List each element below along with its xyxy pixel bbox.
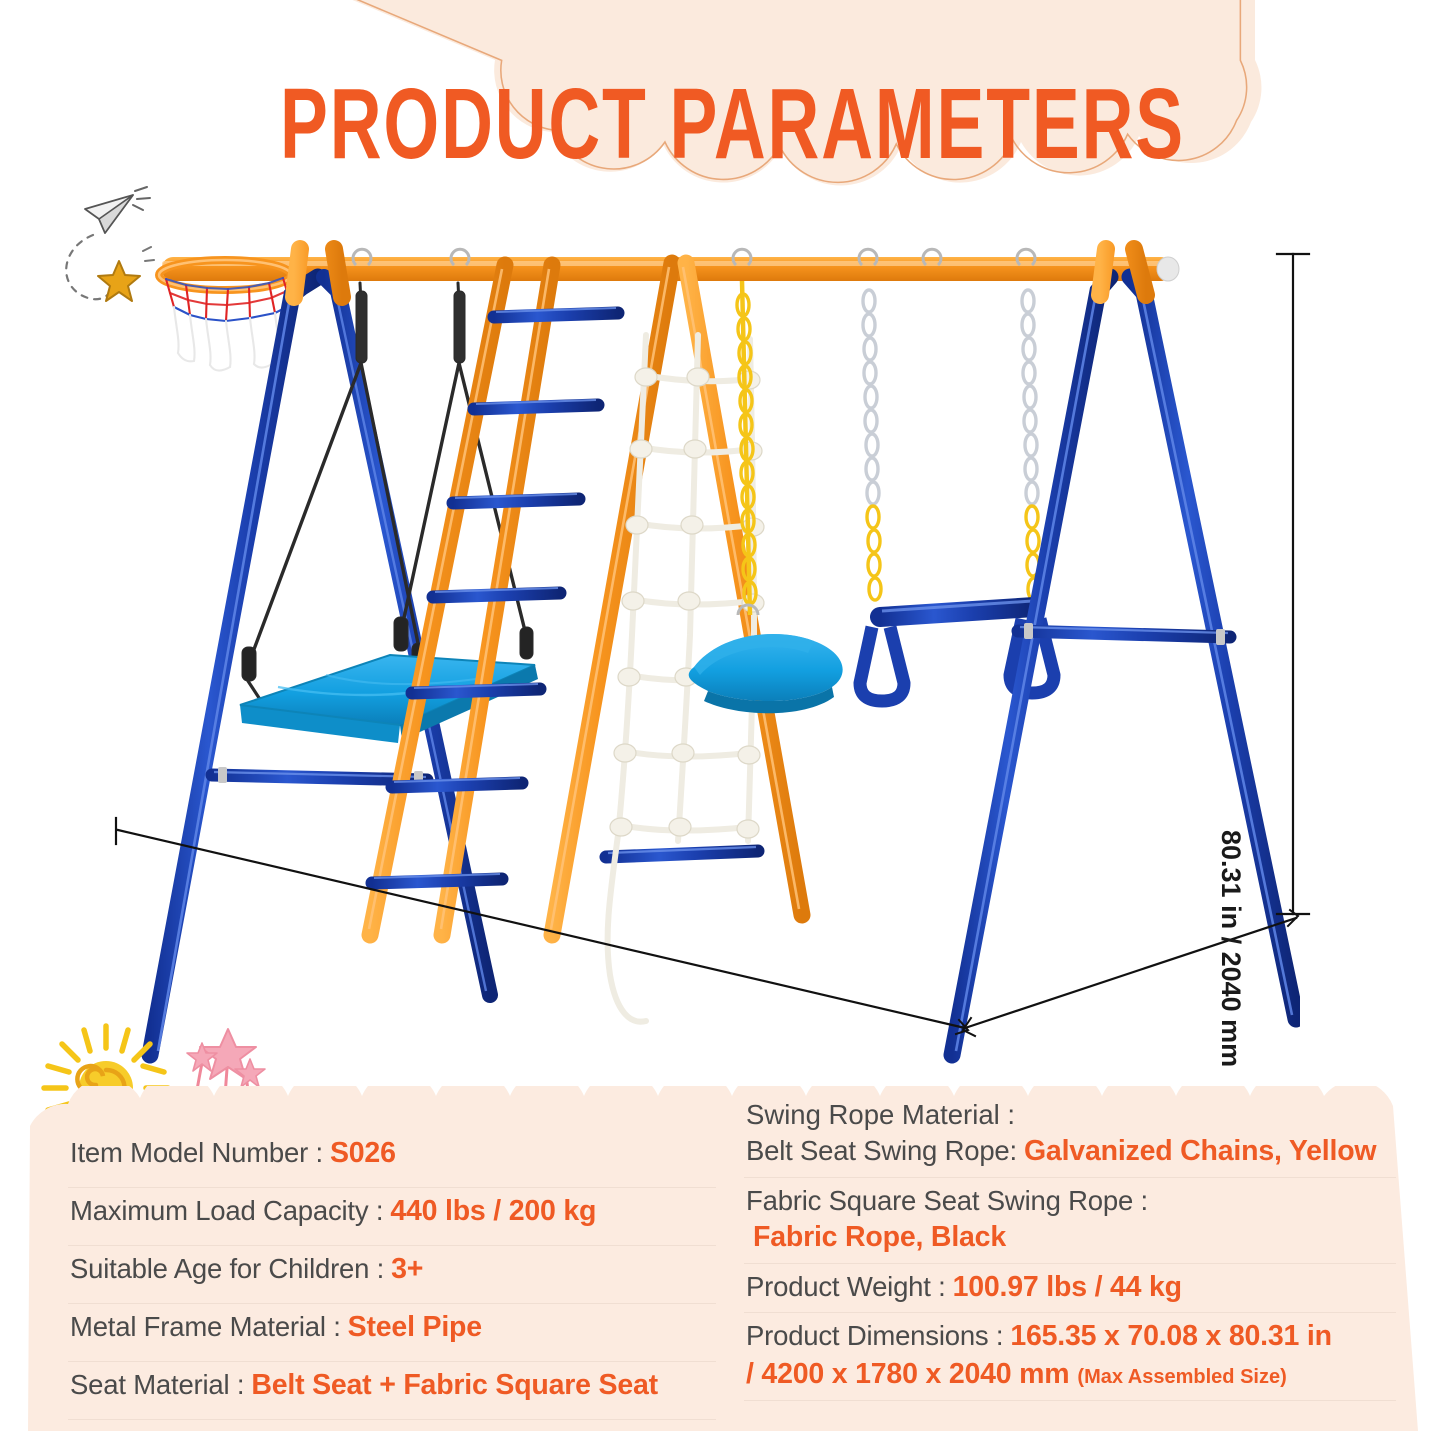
- infographic-page: PRODUCT PARAMETERS: [0, 0, 1445, 1445]
- spec-value: 3+: [391, 1251, 423, 1289]
- spec-value: 100.97 lbs / 44 kg: [953, 1269, 1182, 1307]
- spec-label: Product Dimensions :: [746, 1318, 1003, 1354]
- spec-label: Belt Seat Swing Rope:: [746, 1133, 1017, 1169]
- belt-seat-swing: [689, 249, 843, 713]
- spec-value-line2: / 4200 x 1780 x 2040 mm: [746, 1356, 1069, 1394]
- spec-label: Product Weight :: [746, 1269, 946, 1305]
- spec-value: Galvanized Chains, Yellow: [1024, 1133, 1376, 1171]
- specs-column-right: Swing Rope Material : Belt Seat Swing Ro…: [744, 1090, 1396, 1431]
- spec-row-metal-frame-material: Metal Frame Material : Steel Pipe: [68, 1304, 716, 1362]
- page-title: PRODUCT PARAMETERS: [197, 66, 1269, 182]
- spec-value: 165.35 x 70.08 x 80.31 in: [1010, 1318, 1331, 1356]
- spec-value: Fabric Rope, Black: [753, 1219, 1006, 1257]
- spec-value: Belt Seat + Fabric Square Seat: [251, 1367, 658, 1405]
- specs-column-left: Item Model Number : S026 Maximum Load Ca…: [68, 1090, 716, 1431]
- title-banner: PRODUCT PARAMETERS: [150, 0, 1315, 205]
- specs-panel: Item Model Number : S026 Maximum Load Ca…: [28, 1086, 1418, 1431]
- spec-row-max-load-capacity: Maximum Load Capacity : 440 lbs / 200 kg: [68, 1188, 716, 1246]
- spec-value: 440 lbs / 200 kg: [390, 1193, 596, 1231]
- spec-label: Maximum Load Capacity :: [70, 1193, 383, 1229]
- spec-label: Item Model Number :: [70, 1135, 323, 1171]
- spec-row-suitable-age: Suitable Age for Children : 3+: [68, 1246, 716, 1304]
- a-frame-legs-right: [952, 249, 1296, 1055]
- spec-row-item-model-number: Item Model Number : S026: [68, 1130, 716, 1188]
- spec-note: (Max Assembled Size): [1077, 1364, 1286, 1390]
- spec-label: Fabric Square Seat Swing Rope :: [746, 1183, 1148, 1219]
- spec-row-fabric-seat-swing-rope: Fabric Square Seat Swing Rope : Fabric R…: [744, 1178, 1396, 1264]
- spec-row-product-weight: Product Weight : 100.97 lbs / 44 kg: [744, 1264, 1396, 1314]
- product-image-swing-set: [90, 235, 1300, 1065]
- spec-value: S026: [330, 1135, 396, 1173]
- spec-heading: Swing Rope Material :: [746, 1097, 1394, 1133]
- spec-row-seat-material: Seat Material : Belt Seat + Fabric Squar…: [68, 1362, 716, 1420]
- spec-row-product-dimensions: Product Dimensions : 165.35 x 70.08 x 80…: [744, 1313, 1396, 1400]
- spec-row-swing-rope-material: Swing Rope Material : Belt Seat Swing Ro…: [744, 1092, 1396, 1178]
- spec-label: Seat Material :: [70, 1367, 244, 1403]
- spec-label: Suitable Age for Children :: [70, 1251, 384, 1287]
- spec-value: Steel Pipe: [348, 1309, 482, 1347]
- spec-label: Metal Frame Material :: [70, 1309, 341, 1345]
